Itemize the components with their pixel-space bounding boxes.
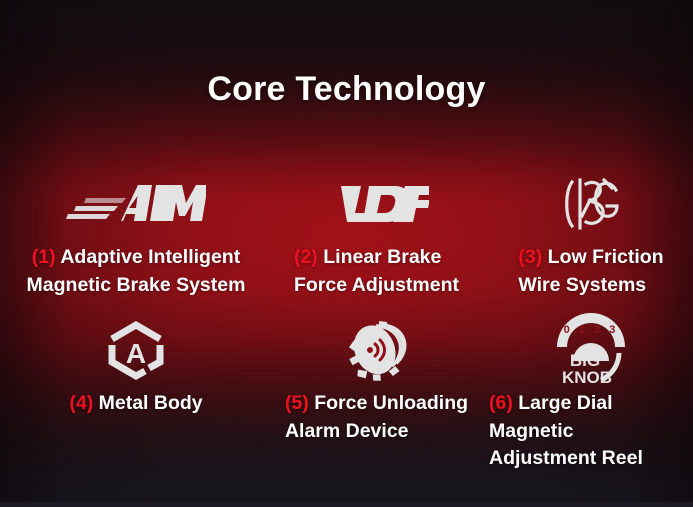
brake-disc-alarm-icon: [344, 322, 410, 378]
aim-wordmark-icon: [66, 176, 206, 232]
feature-number-1: (1): [32, 246, 56, 268]
feature-text-1: Adaptive Intelligent Magnetic Brake Syst…: [27, 246, 246, 296]
feature-text-6: Large Dial Magnetic Adjustment Reel: [489, 392, 643, 469]
feature-item-5: (5) Force Unloading Alarm Device: [264, 322, 489, 473]
feature-item-6: 0 1 2 3 BIG KNOB (6) Large Dial Magnetic…: [489, 322, 693, 473]
feature-row-2: A (4) Metal Body: [0, 322, 693, 473]
big-knob-dial-icon: 0 1 2 3 BIG KNOB: [549, 322, 633, 378]
feature-label-2: (2) Linear Brake Force Adjustment: [294, 244, 459, 299]
feature-text-2: Linear Brake Force Adjustment: [294, 246, 459, 296]
feature-item-2: (2) Linear Brake Force Adjustment: [264, 176, 489, 299]
feature-number-3: (3): [518, 246, 542, 268]
feature-text-4: Metal Body: [99, 392, 203, 414]
feature-item-1: (1) Adaptive Intelligent Magnetic Brake …: [0, 176, 264, 299]
feature-row-1: (1) Adaptive Intelligent Magnetic Brake …: [0, 176, 693, 299]
feature-item-3: (3) Low Friction Wire Systems: [489, 176, 693, 299]
feature-label-3: (3) Low Friction Wire Systems: [518, 244, 663, 299]
monogram-wire-icon: [560, 176, 622, 232]
feature-label-5: (5) Force Unloading Alarm Device: [285, 390, 468, 445]
hexagon-a-icon: A: [105, 322, 167, 378]
slide-content: Core Technology: [0, 0, 693, 507]
feature-label-6: (6) Large Dial Magnetic Adjustment Reel: [489, 390, 693, 473]
core-technology-slide: Core Technology: [0, 0, 693, 507]
feature-number-6: (6): [489, 392, 513, 414]
feature-number-2: (2): [294, 246, 318, 268]
ldf-wordmark-icon: [325, 176, 429, 232]
knob-text: KNOB: [562, 368, 612, 387]
feature-text-5: Force Unloading Alarm Device: [285, 392, 468, 442]
feature-number-4: (4): [69, 392, 93, 414]
page-title: Core Technology: [0, 70, 693, 109]
feature-number-5: (5): [285, 392, 309, 414]
feature-label-4: (4) Metal Body: [69, 390, 202, 418]
hexagon-letter: A: [126, 338, 146, 369]
feature-label-1: (1) Adaptive Intelligent Magnetic Brake …: [27, 244, 246, 299]
feature-item-4: A (4) Metal Body: [0, 322, 264, 473]
dial-tick-numbers: 0 1 2 3: [564, 324, 619, 336]
